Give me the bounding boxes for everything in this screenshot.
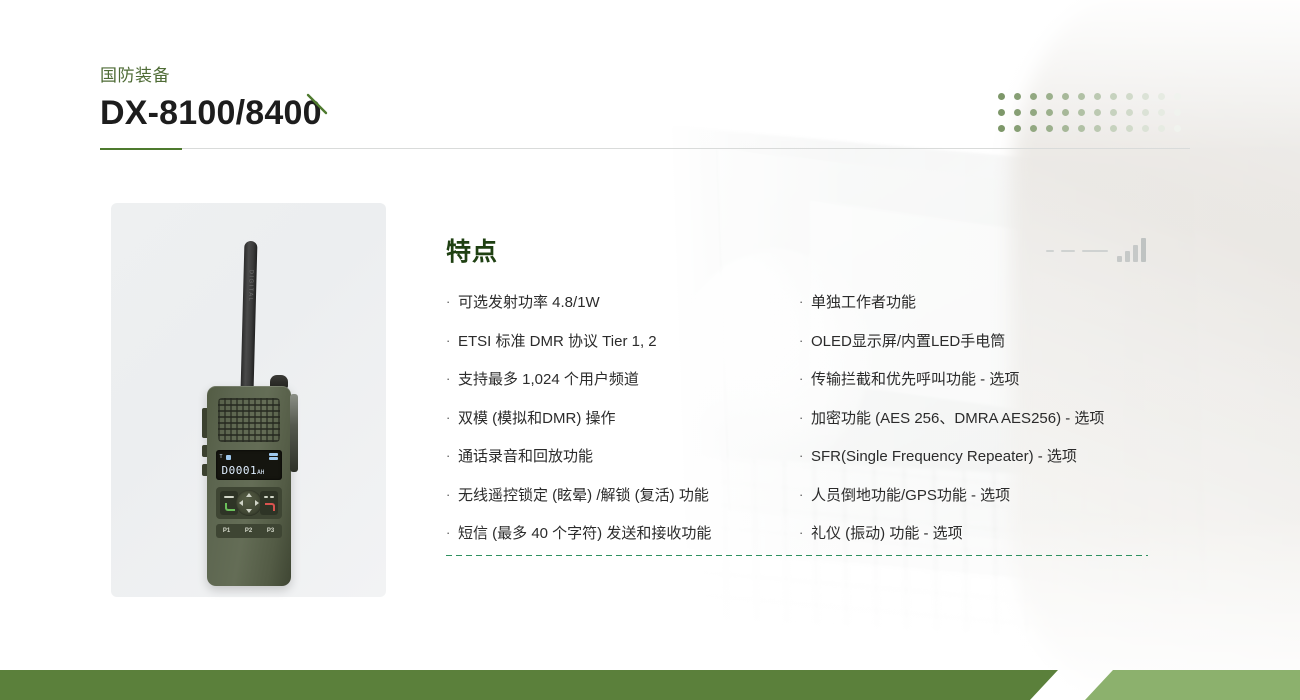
bullet-icon: · (799, 523, 811, 543)
bullet-icon: · (446, 331, 458, 351)
dot (1046, 125, 1053, 132)
dot (1062, 125, 1069, 132)
feature-text: 短信 (最多 40 个字符) 发送和接收功能 (458, 523, 711, 546)
feature-text: 通话录音和回放功能 (458, 446, 593, 469)
feature-text: 无线遥控锁定 (眩晕) /解锁 (复活) 功能 (458, 485, 709, 508)
antenna-label: DIGITAL (246, 270, 253, 303)
footer-bar-light (1085, 670, 1300, 700)
feature-item: ·ETSI 标准 DMR 协议 Tier 1, 2 (446, 331, 799, 354)
dot (1094, 125, 1101, 132)
feature-item: ·单独工作者功能 (799, 292, 1152, 315)
dot (1110, 93, 1117, 100)
programmable-keys: P1P2P3 (216, 524, 282, 538)
bullet-icon: · (446, 408, 458, 428)
speaker-grille (218, 398, 280, 442)
bullet-icon: · (799, 408, 811, 428)
bullet-icon: · (446, 523, 458, 543)
dot (1174, 125, 1181, 132)
dot (1014, 125, 1021, 132)
dot (1046, 109, 1053, 116)
feature-item: ·短信 (最多 40 个字符) 发送和接收功能 (446, 523, 799, 546)
keypad-navigation (216, 487, 282, 519)
dot (1014, 109, 1021, 116)
feature-text: SFR(Single Frequency Repeater) - 选项 (811, 446, 1077, 469)
feature-text: 礼仪 (振动) 功能 - 选项 (811, 523, 963, 546)
dot (1030, 125, 1037, 132)
features-column-right: ·单独工作者功能·OLED显示屏/内置LED手电筒·传输拦截和优先呼叫功能 - … (799, 292, 1152, 562)
feature-text: ETSI 标准 DMR 协议 Tier 1, 2 (458, 331, 657, 354)
feature-text: 传输拦截和优先呼叫功能 - 选项 (811, 369, 1019, 392)
feature-text: OLED显示屏/内置LED手电筒 (811, 331, 1005, 354)
feature-item: ·双模 (模拟和DMR) 操作 (446, 408, 799, 431)
page-header: 国防装备 DX-8100/8400 (100, 64, 322, 134)
dot (1126, 93, 1133, 100)
dot (998, 125, 1005, 132)
dot (1142, 109, 1149, 116)
footer-bar-dark (0, 670, 1058, 700)
dot (1110, 109, 1117, 116)
bullet-icon: · (799, 331, 811, 351)
dot (1174, 109, 1181, 116)
dot (1046, 93, 1053, 100)
feature-item: ·人员倒地功能/GPS功能 - 选项 (799, 485, 1152, 508)
bullet-icon: · (799, 369, 811, 389)
category-label: 国防装备 (100, 64, 322, 88)
bullet-icon: · (446, 369, 458, 389)
dot (1110, 125, 1117, 132)
feature-text: 可选发射功率 4.8/1W (458, 292, 600, 315)
bullet-icon: · (446, 446, 458, 466)
dot (1062, 109, 1069, 116)
bullet-icon: · (446, 292, 458, 312)
display-status-icon (226, 455, 231, 460)
feature-item: ·支持最多 1,024 个用户频道 (446, 369, 799, 392)
programmable-key: P2 (245, 528, 252, 534)
dot (1078, 93, 1085, 100)
features-dashed-divider (446, 555, 1148, 556)
feature-item: ·传输拦截和优先呼叫功能 - 选项 (799, 369, 1152, 392)
dot (1142, 125, 1149, 132)
feature-item: ·礼仪 (振动) 功能 - 选项 (799, 523, 1152, 546)
display-channel: D0001AH (222, 464, 265, 477)
feature-text: 双模 (模拟和DMR) 操作 (458, 408, 616, 431)
product-image-card: DIGITAL T D0001AH (111, 203, 386, 597)
features-column-left: ·可选发射功率 4.8/1W·ETSI 标准 DMR 协议 Tier 1, 2·… (446, 292, 799, 562)
title-row: DX-8100/8400 (100, 88, 322, 135)
programmable-key: P3 (267, 528, 274, 534)
dot (1014, 93, 1021, 100)
display-status-t: T (220, 454, 223, 460)
dot (1062, 93, 1069, 100)
features-heading: 特点 (446, 232, 1152, 268)
end-call-key (260, 491, 278, 515)
dot (1158, 109, 1165, 116)
radio-body: T D0001AH P1P2 (207, 386, 291, 586)
dpad (236, 490, 262, 516)
display-status-left: T (220, 454, 231, 460)
page-title: DX-8100/8400 (100, 92, 322, 135)
bullet-icon: · (446, 485, 458, 505)
dot (998, 109, 1005, 116)
feature-text: 加密功能 (AES 256、DMRA AES256) - 选项 (811, 408, 1104, 431)
dot (1126, 109, 1133, 116)
programmable-key: P1 (223, 528, 230, 534)
dot (998, 93, 1005, 100)
dot (1030, 93, 1037, 100)
feature-item: ·无线遥控锁定 (眩晕) /解锁 (复活) 功能 (446, 485, 799, 508)
antenna: DIGITAL (240, 241, 257, 391)
bullet-icon: · (799, 485, 811, 505)
feature-item: ·可选发射功率 4.8/1W (446, 292, 799, 315)
display-signal-icon (269, 453, 278, 461)
dot (1126, 125, 1133, 132)
features-columns: ·可选发射功率 4.8/1W·ETSI 标准 DMR 协议 Tier 1, 2·… (446, 292, 1152, 562)
header-divider (100, 148, 1190, 150)
dot (1030, 109, 1037, 116)
header-divider-line (100, 148, 1190, 149)
feature-item: ·SFR(Single Frequency Repeater) - 选项 (799, 446, 1152, 469)
feature-item: ·加密功能 (AES 256、DMRA AES256) - 选项 (799, 408, 1152, 431)
dot (1158, 125, 1165, 132)
bullet-icon: · (799, 292, 811, 312)
dot-grid-decoration (998, 88, 1190, 136)
feature-item: ·通话录音和回放功能 (446, 446, 799, 469)
dot (1094, 93, 1101, 100)
belt-clip (290, 394, 298, 472)
feature-text: 支持最多 1,024 个用户频道 (458, 369, 639, 392)
dot (1174, 93, 1181, 100)
dot (1094, 109, 1101, 116)
feature-text: 人员倒地功能/GPS功能 - 选项 (811, 485, 1010, 508)
dot (1142, 93, 1149, 100)
dot (1158, 93, 1165, 100)
slash-accent-icon (305, 92, 331, 118)
display-status-row: T (220, 453, 278, 461)
feature-text: 单独工作者功能 (811, 292, 916, 315)
side-buttons (202, 408, 207, 483)
header-divider-accent (100, 148, 182, 150)
bullet-icon: · (799, 446, 811, 466)
oled-display: T D0001AH (216, 450, 282, 480)
dot (1078, 109, 1085, 116)
feature-item: ·OLED显示屏/内置LED手电筒 (799, 331, 1152, 354)
features-section: 特点 ·可选发射功率 4.8/1W·ETSI 标准 DMR 协议 Tier 1,… (446, 232, 1152, 562)
dot (1078, 125, 1085, 132)
